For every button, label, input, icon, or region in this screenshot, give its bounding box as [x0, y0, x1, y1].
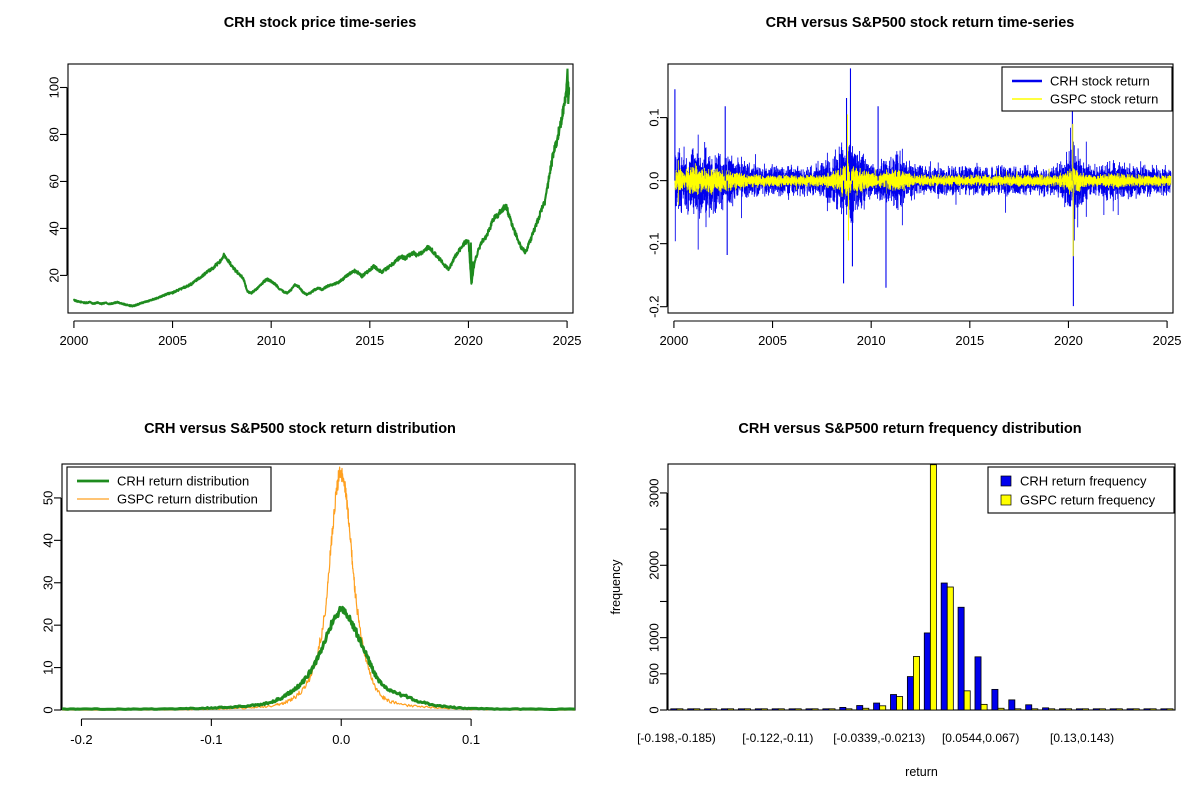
- crh-frequency-bar: [738, 709, 744, 710]
- gspc-frequency-bar: [711, 709, 717, 710]
- gspc-frequency-bar: [1082, 709, 1088, 710]
- y-axis-tick-label: 40: [40, 533, 55, 547]
- y-axis-tick-label: 50: [40, 491, 55, 505]
- y-axis-tick-label: 0: [40, 706, 55, 713]
- figure-panel-grid: CRH stock price time-series 204060801002…: [0, 0, 1200, 800]
- y-axis-tick-label: 3000: [646, 478, 661, 507]
- y-axis-tick-label: 40: [46, 221, 61, 235]
- gspc-frequency-bar: [998, 708, 1004, 710]
- crh-frequency-bar: [1161, 709, 1167, 710]
- gspc-frequency-bar: [1066, 709, 1072, 710]
- x-axis-tick-label: 2015: [955, 333, 984, 348]
- legend-label: CRH stock return: [1050, 74, 1150, 89]
- panel-return-ts-title: CRH versus S&P500 stock return time-seri…: [766, 15, 1075, 31]
- y-axis-tick-label: 10: [40, 660, 55, 674]
- panel-hist-title: CRH versus S&P500 return frequency distr…: [738, 421, 1081, 437]
- gspc-frequency-bar: [1015, 709, 1021, 710]
- x-axis-tick-label: 2010: [257, 333, 286, 348]
- x-axis-tick-label: 2000: [659, 333, 688, 348]
- crh-frequency-bar: [721, 709, 727, 710]
- y-axis-tick-label: 20: [40, 618, 55, 632]
- x-axis-bin-label: [-0.122,-0.11): [742, 731, 813, 745]
- crh-frequency-bar: [874, 703, 880, 710]
- crh-frequency-bar: [1059, 709, 1065, 710]
- gspc-frequency-bar: [1167, 709, 1173, 710]
- crh-frequency-bar: [671, 709, 677, 710]
- crh-frequency-bar: [1093, 709, 1099, 710]
- x-axis-tick-label: -0.1: [200, 732, 222, 747]
- gspc-frequency-bar: [947, 587, 953, 710]
- x-axis-tick-label: 2020: [1054, 333, 1083, 348]
- x-axis-bin-label: [0.13,0.143): [1050, 731, 1114, 745]
- crh-price-line-covid-dip: [471, 243, 473, 283]
- x-axis-tick-label: 2000: [59, 333, 88, 348]
- gspc-frequency-bar: [897, 697, 903, 710]
- gspc-frequency-bar: [1150, 709, 1156, 710]
- crh-density-curve: [62, 607, 575, 709]
- crh-frequency-bar: [958, 607, 964, 710]
- legend-label: GSPC return frequency: [1020, 493, 1156, 508]
- x-axis-bin-label: [-0.0339,-0.0213): [833, 731, 925, 745]
- gspc-frequency-bar: [863, 708, 869, 710]
- x-axis-title: return: [905, 765, 938, 779]
- crh-frequency-bar: [907, 677, 913, 710]
- panel-crh-gspc-return-density: CRH versus S&P500 stock return distribut…: [0, 400, 600, 800]
- crh-frequency-bar: [941, 583, 947, 710]
- y-axis-tick-label: -0.1: [646, 232, 661, 254]
- crh-frequency-bar: [823, 709, 829, 710]
- x-axis-tick-label: 2010: [857, 333, 886, 348]
- crh-frequency-bar: [1110, 709, 1116, 710]
- crh-price-line-peak: [566, 69, 569, 104]
- crh-frequency-bar: [1009, 700, 1015, 710]
- legend-label: GSPC stock return: [1050, 92, 1158, 107]
- gspc-frequency-bar: [761, 709, 767, 710]
- y-axis-tick-label: 500: [646, 663, 661, 685]
- y-axis-tick-label: 0.1: [646, 109, 661, 127]
- gspc-frequency-bar: [795, 709, 801, 710]
- y-axis-tick-label: 60: [46, 174, 61, 188]
- x-axis-tick-label: 2005: [758, 333, 787, 348]
- crh-frequency-bar: [1043, 708, 1049, 710]
- gspc-frequency-bar: [694, 709, 700, 710]
- crh-frequency-bar: [789, 709, 795, 710]
- crh-frequency-bar: [975, 657, 981, 710]
- gspc-frequency-bar: [677, 709, 683, 710]
- crh-frequency-bar: [924, 633, 930, 710]
- y-axis-tick-label: 1000: [646, 623, 661, 652]
- x-axis-tick-label: 2025: [1153, 333, 1182, 348]
- panel-crh-gspc-return-frequency: CRH versus S&P500 return frequency distr…: [600, 400, 1200, 800]
- gspc-frequency-bar: [728, 709, 734, 710]
- gspc-frequency-bar: [913, 656, 919, 710]
- legend-label: CRH return distribution: [117, 474, 249, 489]
- crh-return-noise: [675, 128, 1171, 250]
- gspc-frequency-bar: [964, 691, 970, 710]
- crh-frequency-bar: [705, 709, 711, 710]
- legend-histogram: CRH return frequencyGSPC return frequenc…: [988, 467, 1174, 513]
- x-axis-tick-label: 2020: [454, 333, 483, 348]
- y-axis-tick-label: 20: [46, 268, 61, 282]
- x-axis-bin-label: [0.0544,0.067): [942, 731, 1019, 745]
- crh-frequency-bar: [1026, 705, 1032, 710]
- x-axis-tick-label: 2015: [355, 333, 384, 348]
- x-axis-tick-label: 2005: [158, 333, 187, 348]
- gspc-frequency-bar: [930, 465, 936, 710]
- crh-frequency-bar: [890, 695, 896, 710]
- y-axis-tick-label: -0.2: [646, 295, 661, 317]
- gspc-frequency-bar: [1049, 709, 1055, 710]
- crh-frequency-bar: [1127, 709, 1133, 710]
- y-axis-title: frequency: [609, 559, 623, 615]
- crh-frequency-bar: [806, 709, 812, 710]
- legend-label: CRH return frequency: [1020, 474, 1147, 489]
- x-axis-tick-label: 0.0: [332, 732, 350, 747]
- y-axis-tick-label: 0.0: [646, 172, 661, 190]
- gspc-frequency-bar: [1032, 709, 1038, 710]
- legend-return-ts: CRH stock returnGSPC stock return: [1002, 67, 1172, 111]
- gspc-frequency-bar: [981, 704, 987, 710]
- crh-frequency-bar: [857, 706, 863, 710]
- crh-frequency-bar: [840, 707, 846, 710]
- y-axis-tick-label: 80: [46, 127, 61, 141]
- x-axis-bin-label: [-0.198,-0.185): [637, 731, 716, 745]
- gspc-frequency-bar: [880, 706, 886, 710]
- y-axis-tick-label: 30: [40, 576, 55, 590]
- gspc-frequency-bar: [1133, 709, 1139, 710]
- x-axis-tick-label: -0.2: [70, 732, 92, 747]
- gspc-frequency-bar: [846, 709, 852, 710]
- gspc-frequency-bar: [812, 709, 818, 710]
- x-axis-tick-label: 0.1: [462, 732, 480, 747]
- y-axis-tick-label: 2000: [646, 551, 661, 580]
- panel-crh-price-timeseries: CRH stock price time-series 204060801002…: [0, 0, 600, 400]
- panel-density-title: CRH versus S&P500 stock return distribut…: [144, 421, 456, 437]
- gspc-frequency-bar: [1099, 709, 1105, 710]
- y-axis-tick-label: 100: [46, 77, 61, 99]
- panel-crh-gspc-return-timeseries: CRH versus S&P500 stock return time-seri…: [600, 0, 1200, 400]
- y-axis-tick-label: 0: [646, 706, 661, 713]
- panel-price-title: CRH stock price time-series: [224, 15, 417, 31]
- gspc-frequency-bar: [1116, 709, 1122, 710]
- legend-density: CRH return distributionGSPC return distr…: [67, 467, 271, 511]
- crh-frequency-bar: [992, 689, 998, 710]
- crh-frequency-bar: [688, 709, 694, 710]
- gspc-frequency-bar: [744, 709, 750, 710]
- crh-frequency-bar: [755, 709, 761, 710]
- crh-frequency-bar: [1076, 709, 1082, 710]
- crh-price-line: [74, 79, 569, 306]
- gspc-frequency-bar: [778, 709, 784, 710]
- crh-frequency-bar: [1144, 709, 1150, 710]
- x-axis-tick-label: 2025: [553, 333, 582, 348]
- plot-frame: [68, 64, 573, 313]
- legend-marker-square: [1001, 495, 1011, 505]
- legend-marker-square: [1001, 476, 1011, 486]
- gspc-frequency-bar: [829, 709, 835, 710]
- legend-label: GSPC return distribution: [117, 492, 258, 507]
- crh-frequency-bar: [772, 709, 778, 710]
